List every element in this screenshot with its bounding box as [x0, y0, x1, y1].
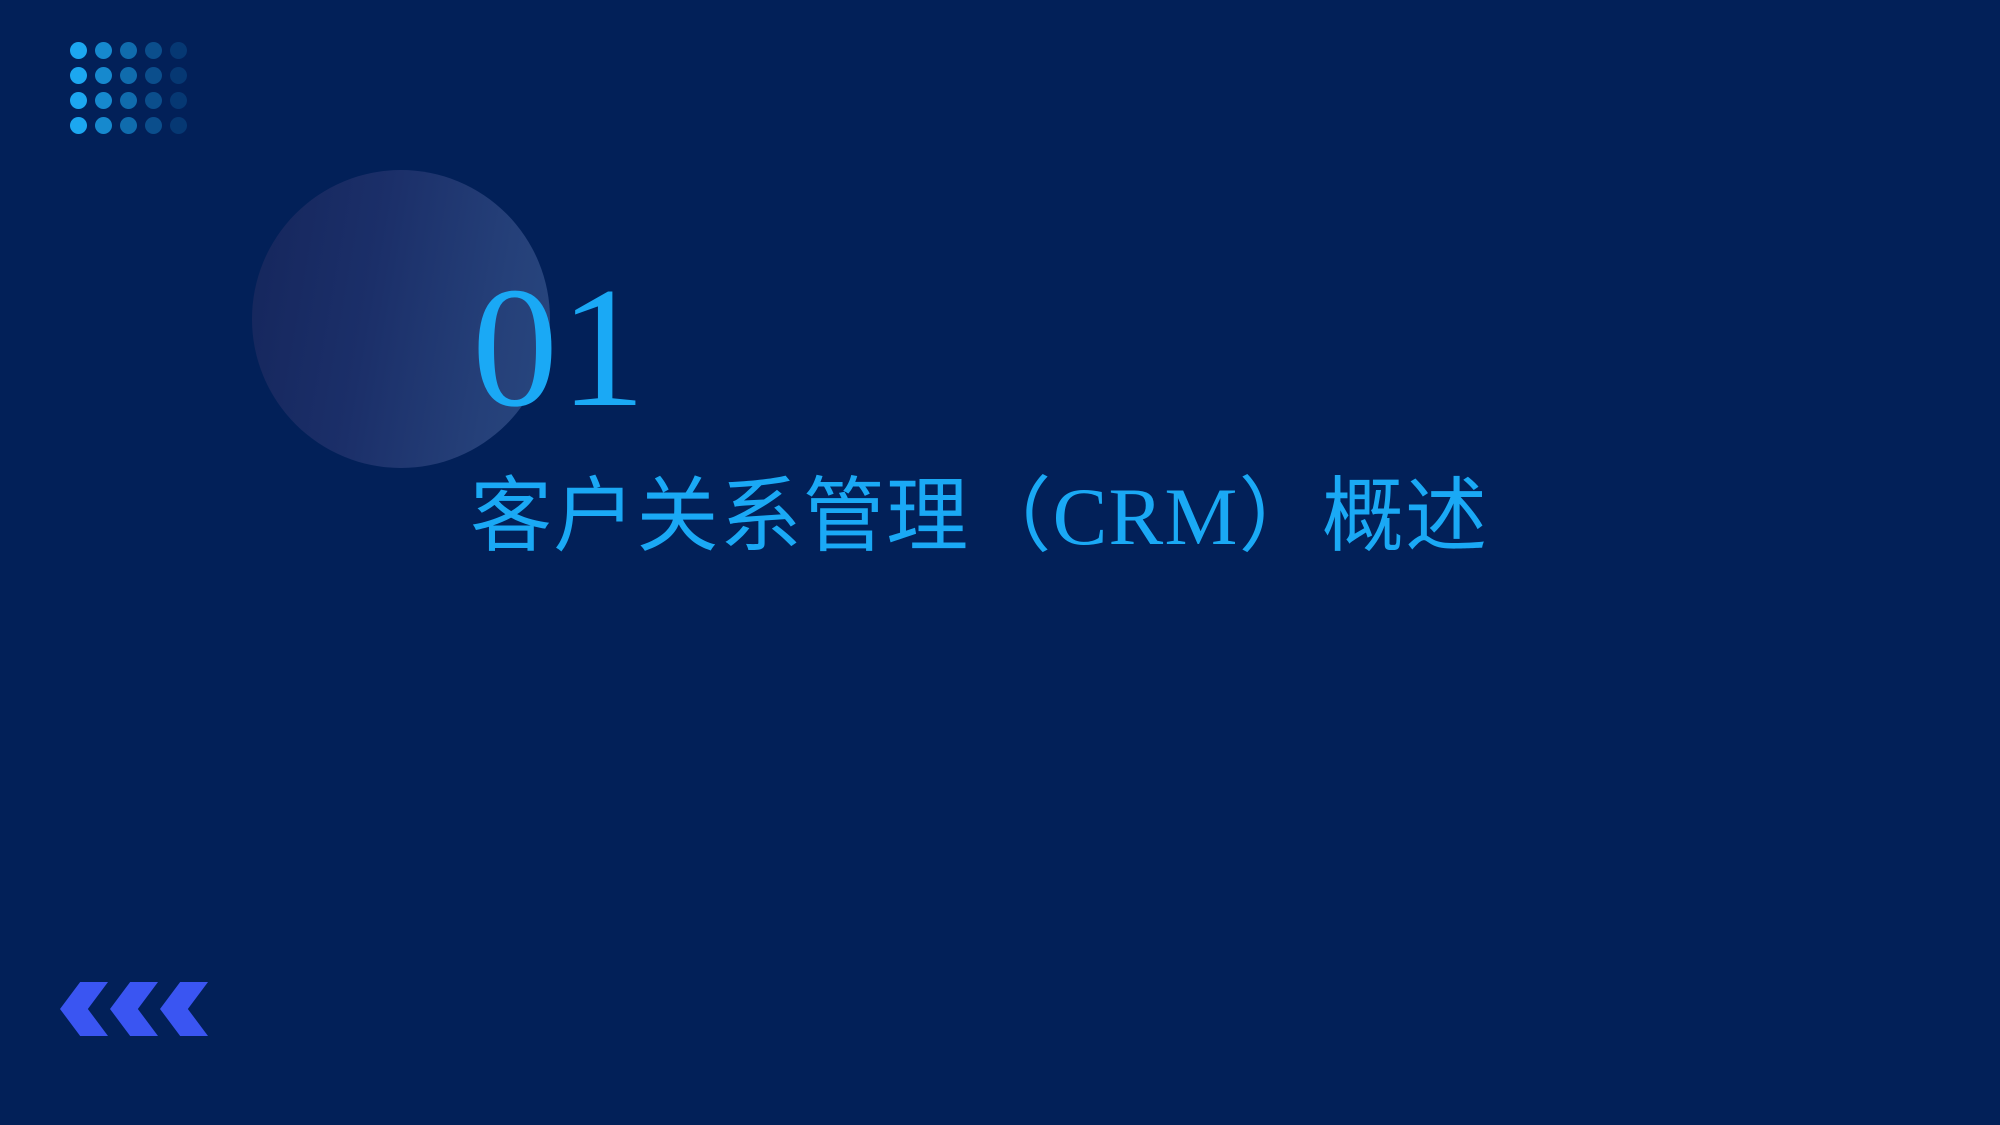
dot-grid-dot: [170, 67, 187, 84]
dot-grid-icon: [70, 42, 195, 142]
chevron-left-icon: [60, 982, 108, 1036]
chevron-left-icon: [110, 982, 158, 1036]
dot-grid-dot: [95, 92, 112, 109]
dot-grid-dot: [95, 42, 112, 59]
section-divider-slide: 01 客户关系管理（CRM）概述: [0, 0, 2000, 1125]
dot-grid-dot: [70, 117, 87, 134]
dot-grid-dot: [145, 42, 162, 59]
section-title: 客户关系管理（CRM）概述: [470, 470, 1488, 564]
dot-grid-dot: [170, 92, 187, 109]
dot-grid-dot: [70, 67, 87, 84]
dot-grid-dot: [120, 117, 137, 134]
dot-grid-dot: [120, 42, 137, 59]
dot-grid-dot: [70, 42, 87, 59]
dot-grid-dot: [95, 67, 112, 84]
dot-grid-dot: [145, 92, 162, 109]
dot-grid-dot: [170, 117, 187, 134]
dot-grid-dot: [120, 92, 137, 109]
dot-grid-dot: [170, 42, 187, 59]
section-number: 01: [472, 262, 647, 434]
dot-grid-dot: [145, 117, 162, 134]
chevron-left-icon: [160, 982, 208, 1036]
dot-grid-dot: [120, 67, 137, 84]
dot-grid-dot: [95, 117, 112, 134]
dot-grid-dot: [70, 92, 87, 109]
double-chevron-left-icon: [60, 982, 208, 1036]
dot-grid-dot: [145, 67, 162, 84]
